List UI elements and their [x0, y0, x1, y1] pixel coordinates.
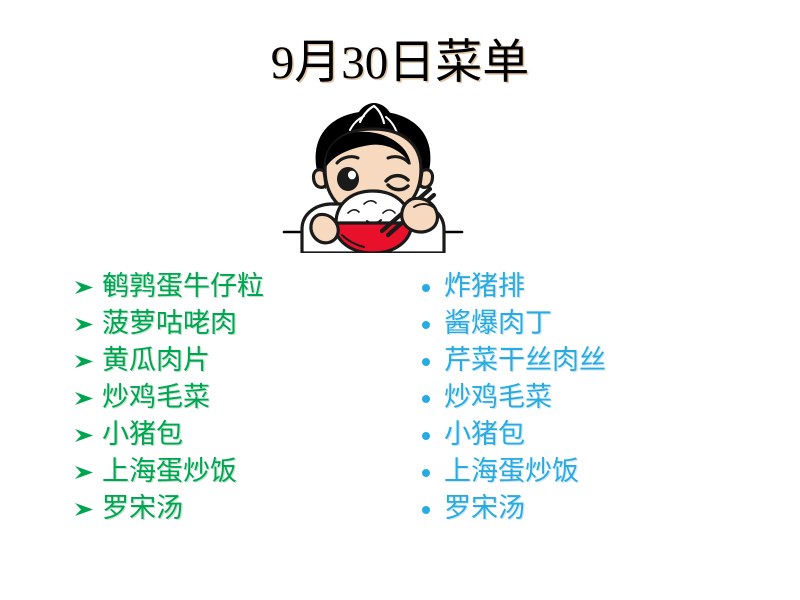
list-item-label: 小猪包	[444, 416, 525, 453]
page-title: 9月30日菜单	[0, 38, 800, 90]
arrow-bullet-icon	[72, 416, 102, 453]
list-item-label: 上海蛋炒饭	[102, 453, 237, 490]
list-item[interactable]: 鹌鹑蛋牛仔粒	[72, 268, 402, 305]
arrow-bullet-icon	[72, 268, 102, 305]
list-item[interactable]: 酱爆肉丁	[418, 305, 758, 342]
list-item[interactable]: 炒鸡毛菜	[418, 379, 758, 416]
list-item-label: 芹菜干丝肉丝	[444, 342, 606, 379]
list-item-label: 菠萝咕咾肉	[102, 305, 237, 342]
list-item-label: 罗宋汤	[444, 490, 525, 527]
list-item-label: 炒鸡毛菜	[444, 379, 552, 416]
list-item[interactable]: 炒鸡毛菜	[72, 379, 402, 416]
list-item[interactable]: 炸猪排	[418, 268, 758, 305]
list-item-label: 炸猪排	[444, 268, 525, 305]
arrow-bullet-icon	[72, 342, 102, 379]
disc-bullet-icon	[418, 453, 444, 490]
list-item-label: 炒鸡毛菜	[102, 379, 210, 416]
list-item-label: 上海蛋炒饭	[444, 453, 579, 490]
disc-bullet-icon	[418, 268, 444, 305]
menu-list-right: 炸猪排 酱爆肉丁 芹菜干丝肉丝 炒鸡毛菜 小猪包 上海蛋炒饭 罗宋汤	[418, 268, 758, 527]
list-item-label: 黄瓜肉片	[102, 342, 210, 379]
disc-bullet-icon	[418, 416, 444, 453]
arrow-bullet-icon	[72, 490, 102, 527]
list-item[interactable]: 上海蛋炒饭	[418, 453, 758, 490]
list-item[interactable]: 罗宋汤	[72, 490, 402, 527]
list-item[interactable]: 小猪包	[72, 416, 402, 453]
list-item-label: 罗宋汤	[102, 490, 183, 527]
list-item[interactable]: 罗宋汤	[418, 490, 758, 527]
arrow-bullet-icon	[72, 453, 102, 490]
arrow-bullet-icon	[72, 379, 102, 416]
boy-eating-rice-bowl-illustration	[278, 103, 468, 253]
list-item-label: 小猪包	[102, 416, 183, 453]
arrow-bullet-icon	[72, 305, 102, 342]
disc-bullet-icon	[418, 342, 444, 379]
disc-bullet-icon	[418, 490, 444, 527]
disc-bullet-icon	[418, 379, 444, 416]
disc-bullet-icon	[418, 305, 444, 342]
list-item[interactable]: 上海蛋炒饭	[72, 453, 402, 490]
list-item[interactable]: 菠萝咕咾肉	[72, 305, 402, 342]
list-item[interactable]: 黄瓜肉片	[72, 342, 402, 379]
menu-list-left: 鹌鹑蛋牛仔粒 菠萝咕咾肉 黄瓜肉片 炒鸡毛菜 小猪包 上海蛋炒饭	[72, 268, 402, 527]
list-item-label: 酱爆肉丁	[444, 305, 552, 342]
list-item[interactable]: 芹菜干丝肉丝	[418, 342, 758, 379]
list-item-label: 鹌鹑蛋牛仔粒	[102, 268, 264, 305]
list-item[interactable]: 小猪包	[418, 416, 758, 453]
